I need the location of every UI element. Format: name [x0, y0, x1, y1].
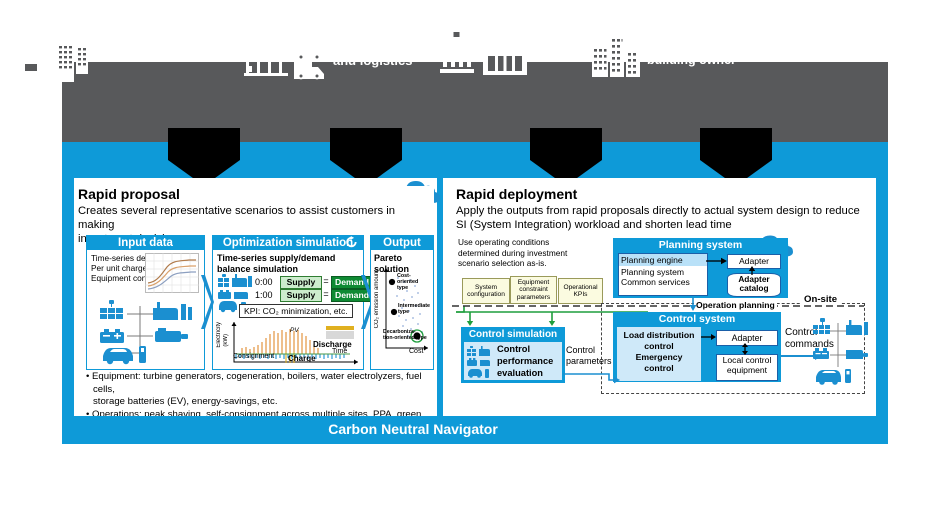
- customer-segment-developer: Developer building owner ● ● ●: [590, 28, 769, 80]
- supply-row-time: 0:00: [255, 277, 273, 288]
- equals-sign: =: [321, 276, 331, 286]
- customers-segment-row: Manufacturing: [0, 28, 826, 80]
- subtitle-line-1: Apply the outputs from rapid proposals d…: [456, 205, 860, 217]
- label-line-2: type: [397, 285, 408, 291]
- label-line-1: Transportation: [333, 39, 424, 54]
- footer-title: Carbon Neutral Navigator: [0, 414, 826, 444]
- chart-x-label: Time: [332, 348, 347, 355]
- chart-annotation-pv: PV: [290, 327, 299, 334]
- customers-title: Customers: All energy (electricity and f…: [0, 5, 826, 21]
- kpi-note: KPI: CO₂ minimization, etc.: [239, 304, 353, 318]
- note-line-1: Use operating conditions: [458, 237, 549, 247]
- plant-icon: [153, 302, 192, 320]
- control-parameters-label: Control parameters: [566, 345, 614, 368]
- rapid-deployment-panel: Rapid deployment Apply the outputs from …: [456, 186, 876, 216]
- timeseries-graph-icon: [145, 253, 199, 293]
- chart-annotation-charge: Charge: [288, 354, 316, 363]
- adapter-catalog-box: Adapter catalog: [727, 273, 781, 297]
- subtitle-line-2: balance simulation: [217, 264, 298, 274]
- pareto-x-label: Cost: [409, 348, 423, 355]
- label-line-1: Developer: [647, 40, 707, 54]
- arrow-engine-to-adapter: [706, 256, 728, 268]
- frame-mid-divider: [437, 178, 443, 416]
- chart-annotation-consignment: Consignment: [233, 353, 274, 360]
- on-site-equipment-icons: [812, 315, 872, 387]
- label-line-2: tion-oriented type: [383, 335, 427, 341]
- planning-engine-group: Planning engine Planning system Common s…: [618, 253, 708, 296]
- label-line-1: Control: [566, 345, 595, 355]
- label-line-2: and logistics: [333, 53, 412, 68]
- control-simulation-header: Control simulation: [462, 328, 564, 341]
- supply-badge: Supply: [280, 289, 322, 302]
- rapid-deployment-title: Rapid deployment: [456, 186, 876, 202]
- operation-planning-line: [452, 300, 872, 312]
- planning-system-header: Planning system: [613, 238, 788, 252]
- chart-y-label: Electricity: [216, 322, 222, 348]
- catalog-line-2: catalog: [739, 283, 768, 293]
- label-line-1: Cost-oriented: [397, 273, 418, 285]
- local-line-2: equipment: [727, 365, 767, 375]
- control-system-header: Control system: [613, 312, 781, 326]
- common-line-1: Planning system: [621, 267, 684, 277]
- control-line-3: Emergency: [636, 352, 683, 362]
- generator-icon: [155, 328, 188, 342]
- customer-segment-label: Manufacturing: [117, 47, 207, 61]
- customer-segment-retail: Retail: [435, 28, 571, 80]
- card-line-1: Operational: [563, 284, 597, 291]
- supply-row-time: 1:00: [255, 290, 273, 301]
- y-label-line-2: (kW): [223, 334, 229, 347]
- card-line-2: constraint: [519, 286, 548, 293]
- label-line-2: building owner: [647, 53, 736, 67]
- optimization-subtitle: Time-series supply/demand balance simula…: [213, 250, 363, 276]
- warehouse-truck-icon: [240, 29, 328, 79]
- control-line-4: control: [644, 363, 673, 373]
- body-line-2: performance: [497, 356, 553, 366]
- card-line-1: Equipment: [518, 279, 550, 286]
- supply-badge: Supply: [280, 276, 322, 289]
- operation-planning-label: Operation planning: [694, 300, 777, 310]
- equipment-mini-icons: [466, 345, 496, 379]
- arrow-catalog-to-adapter: [747, 266, 759, 275]
- body-line-3: evaluation: [497, 368, 543, 378]
- frame-left-edge: [62, 178, 74, 416]
- customer-segment-label: Developer building owner: [647, 41, 736, 68]
- output-data-header: Output data: [371, 236, 433, 250]
- charger-icon: [139, 346, 146, 363]
- common-line-2: Common services: [621, 277, 690, 287]
- optimization-header: Optimization simulation: [213, 236, 363, 250]
- footnote-line: storage batteries (EV), energy-savings, …: [86, 396, 436, 409]
- optimization-header-label: Optimization simulation: [223, 237, 353, 249]
- output-data-box: Output data Pareto solution CO₂ emission…: [370, 235, 434, 370]
- refresh-loop-icon: [345, 236, 358, 249]
- control-functions-group: Load distribution control Emergency cont…: [617, 327, 701, 381]
- local-control-equipment-box: Local control equipment: [716, 354, 778, 381]
- arrow-adapter-local-bidirectional: [740, 343, 752, 355]
- diagram-canvas: Customers: All energy (electricity and f…: [0, 0, 950, 512]
- control-performance-evaluation-label: Control performance evaluation: [497, 344, 553, 380]
- ellipsis-dots: ● ● ●: [743, 54, 769, 66]
- optimization-simulation-box: Optimization simulation Time-series supp…: [212, 235, 364, 370]
- subtitle-line-1: Time-series supply/demand: [217, 253, 335, 263]
- solar-panel-icon: [100, 300, 123, 319]
- store-icon: [435, 29, 531, 79]
- label-line-2: type: [398, 309, 409, 315]
- frame-right-edge: [876, 178, 888, 416]
- battery-icon: [100, 329, 124, 343]
- planning-engine-label: Planning engine: [619, 254, 707, 266]
- customer-segment-label: Retail: [536, 47, 571, 61]
- label-line-2: parameters: [566, 356, 612, 366]
- note-line-2: determined during investment: [458, 248, 567, 258]
- pareto-point-label-1: Cost-oriented type: [397, 274, 430, 292]
- card-line-2: KPIs: [574, 291, 588, 298]
- office-buildings-icon: [590, 29, 642, 79]
- control-line-1: Load distribution: [624, 330, 695, 340]
- equipment-icons-group: [97, 298, 195, 364]
- note-line-3: scenario selection as-is.: [458, 258, 547, 268]
- planning-common-services: Planning system Common services: [619, 266, 707, 289]
- factory-building-icon: [20, 30, 112, 78]
- pareto-point-label-3: Decarboniza- tion-oriented type: [383, 330, 427, 341]
- control-line-2: control: [644, 341, 673, 351]
- arrow-control-to-adapter: [701, 332, 717, 342]
- pareto-point-label-2: Intermediate type: [398, 304, 430, 316]
- input-data-header: Input data: [87, 236, 204, 250]
- subtitle-line-1: Creates several representative scenarios…: [78, 205, 395, 231]
- rapid-deployment-subtitle: Apply the outputs from rapid proposals d…: [456, 204, 876, 232]
- rapid-proposal-title: Rapid proposal: [78, 186, 434, 202]
- arrow-operation-planning-down: [688, 297, 698, 311]
- customer-segment-manufacturing: Manufacturing: [20, 28, 207, 80]
- pareto-y-label: CO₂ emission amount: [374, 270, 380, 328]
- customer-segment-transportation: Transportation and logistics: [240, 28, 424, 80]
- control-simulation-box: Control simulation: [461, 327, 565, 383]
- card-line-1: System: [475, 284, 497, 291]
- input-data-box: Input data Time-series demand Per unit c…: [86, 235, 205, 370]
- planning-system-box: Planning system Planning engine Planning…: [613, 238, 788, 298]
- customer-segment-label: Transportation and logistics: [333, 40, 424, 68]
- card-line-2: configuration: [467, 291, 505, 298]
- equals-sign: =: [321, 289, 331, 299]
- y-label-line-1: Electricity: [216, 322, 222, 348]
- supply-demand-chart: Electricity (kW): [216, 320, 360, 364]
- subtitle-line-2: SI (System Integration) workload and sho…: [456, 219, 732, 231]
- ev-car-icon: [103, 348, 133, 364]
- operating-conditions-note: Use operating conditions determined duri…: [458, 237, 618, 269]
- local-line-1: Local control: [723, 355, 772, 365]
- body-line-1: Control: [497, 344, 530, 354]
- footnote-line: • Equipment: turbine generators, cogener…: [86, 371, 436, 396]
- control-simulation-body: Control performance evaluation: [464, 342, 562, 380]
- chart-y-label-unit: (kW): [223, 334, 229, 347]
- pareto-chart: CO₂ emission amount: [374, 266, 430, 364]
- arrow-input-to-optimization: [201, 275, 214, 329]
- control-system-box: Control system Load distribution control…: [613, 312, 781, 382]
- arrow-control-parameters: [563, 368, 621, 386]
